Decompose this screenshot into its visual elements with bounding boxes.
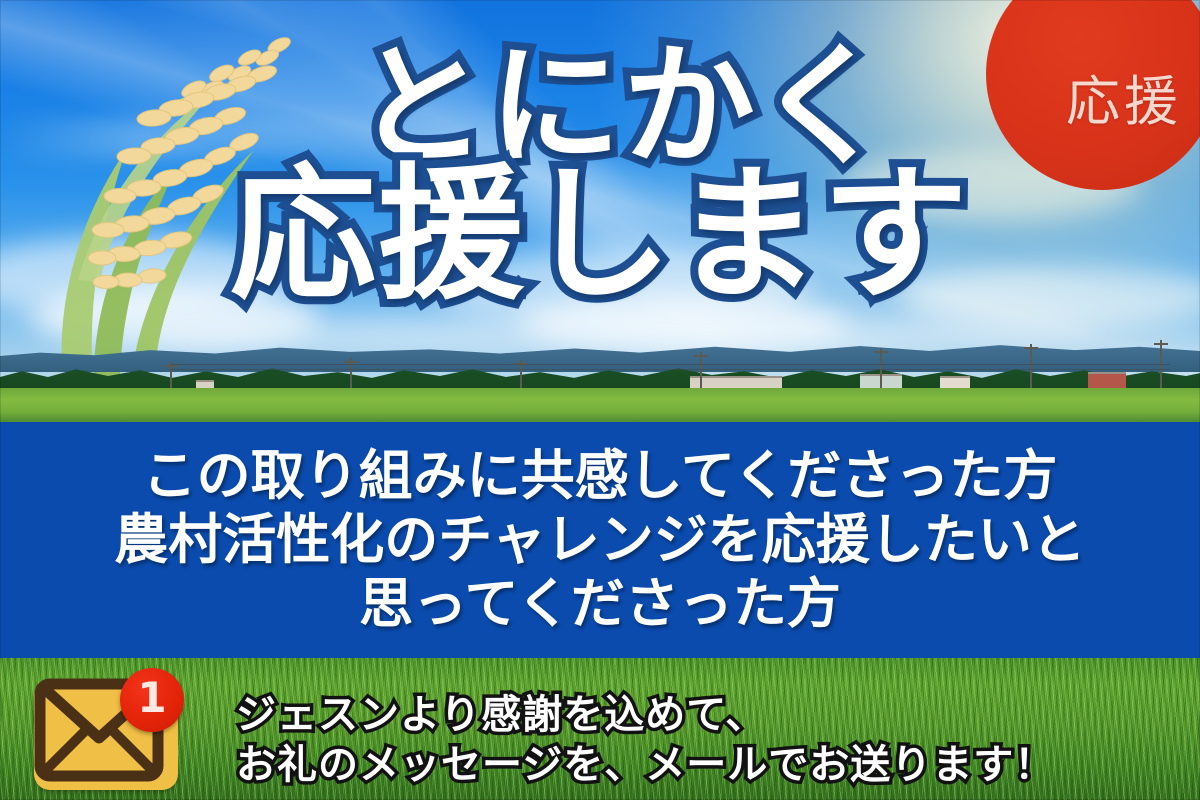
utility-pole-7 xyxy=(1160,340,1162,392)
banner-line-3: 思ってくださった方 xyxy=(359,572,841,636)
footer-line-2: お礼のメッセージを、メールでお送ります！ xyxy=(236,740,1066,790)
utility-pole-5 xyxy=(880,348,882,392)
unread-count-badge: 1 xyxy=(120,668,184,732)
banner-line-1: この取り組みに共感してくださった方 xyxy=(143,444,1058,508)
utility-pole-4 xyxy=(700,352,702,392)
rural-landscape xyxy=(0,330,1200,422)
building-4 xyxy=(1088,372,1126,389)
power-wire-1 xyxy=(170,364,1170,365)
utility-pole-6 xyxy=(1030,344,1032,392)
mountain-range xyxy=(0,330,1200,372)
promotional-poster: 応援 とにかく 応援します この取り組みに共感してくださった方 農村活性化のチャ… xyxy=(0,0,1200,800)
footer-line-1: ジェスンより感謝を込めて、 xyxy=(236,690,1066,740)
message-banner: この取り組みに共感してくださった方 農村活性化のチャレンジを応援したいと 思って… xyxy=(0,422,1200,658)
unread-count-value: 1 xyxy=(137,677,166,719)
green-field xyxy=(0,388,1200,422)
banner-line-2: 農村活性化のチャレンジを応援したいと xyxy=(114,508,1085,572)
footer-text-block: ジェスンより感謝を込めて、 お礼のメッセージを、メールでお送ります！ xyxy=(236,690,1066,791)
envelope-icon: 1 xyxy=(26,668,186,790)
support-badge-label: 応援 xyxy=(1066,57,1182,136)
power-wire-2 xyxy=(170,369,1170,370)
